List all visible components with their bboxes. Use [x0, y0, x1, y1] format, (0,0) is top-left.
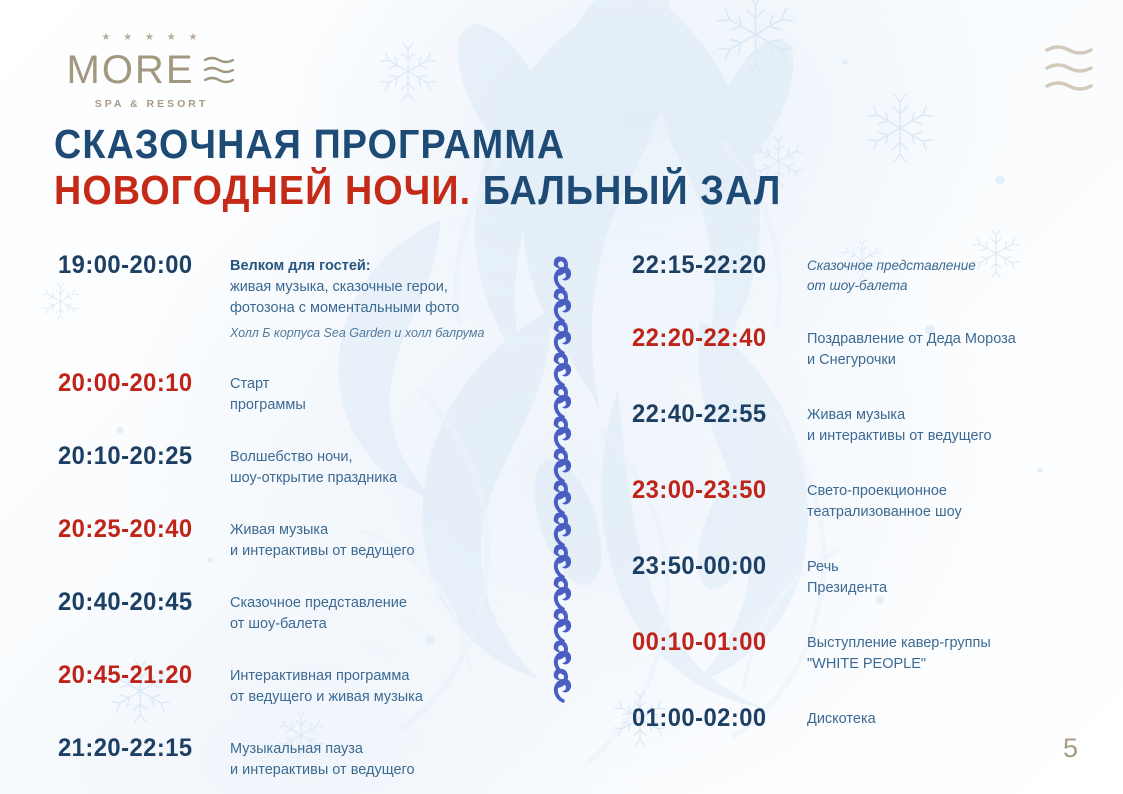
schedule-time: 23:50-00:00 — [632, 553, 798, 581]
schedule-row: 20:10-20:25Волшебство ночи,шоу-открытие … — [58, 443, 518, 489]
schedule-description-line: Свето-проекционное — [807, 481, 1082, 502]
schedule-description-line: Сказочное представление — [230, 593, 518, 614]
schedule-description-line: Поздравление от Деда Мороза — [807, 329, 1082, 350]
schedule-time: 19:00-20:00 — [58, 252, 221, 280]
schedule-description: Живая музыкаи интерактивы от ведущего — [230, 516, 518, 562]
schedule-time: 20:40-20:45 — [58, 589, 221, 617]
schedule-description-line: Сказочное представление — [807, 256, 1082, 276]
schedule-description-line: Президента — [807, 578, 1082, 599]
schedule-row: 23:00-23:50Свето-проекционноетеатрализов… — [632, 477, 1082, 523]
brand-name: MORE — [67, 50, 195, 90]
schedule-row: 22:40-22:55Живая музыкаи интерактивы от … — [632, 401, 1082, 447]
schedule-row: 19:00-20:00Велком для гостей:живая музык… — [58, 252, 518, 342]
corner-wave-icon — [1045, 42, 1095, 94]
schedule-description-line: и интерактивы от ведущего — [230, 541, 518, 562]
schedule-description-title: Велком для гостей: — [230, 256, 518, 277]
schedule-description-line: от шоу-балета — [807, 276, 1082, 296]
schedule-description-line: театрализованное шоу — [807, 502, 1082, 523]
title-line-2-red: НОВОГОДНЕЙ НОЧИ. — [54, 167, 471, 213]
schedule-time: 22:20-22:40 — [632, 325, 798, 353]
schedule-time: 01:00-02:00 — [632, 705, 798, 733]
schedule-description-line: Дискотека — [807, 709, 1082, 730]
schedule-time: 22:40-22:55 — [632, 401, 798, 429]
schedule-description: Стартпрограммы — [230, 370, 518, 416]
schedule-time: 20:45-21:20 — [58, 662, 221, 690]
schedule-time: 20:10-20:25 — [58, 443, 221, 471]
title-line-1: СКАЗОЧНАЯ ПРОГРАММА — [54, 122, 781, 168]
schedule-description-line: Музыкальная пауза — [230, 739, 518, 760]
schedule-description: Сказочное представлениеот шоу-балета — [230, 589, 518, 635]
title-line-2: НОВОГОДНЕЙ НОЧИ. БАЛЬНЫЙ ЗАЛ — [54, 168, 781, 214]
schedule-description-note: Холл Б корпуса Sea Garden и холл балрума — [230, 324, 518, 342]
schedule-description: Велком для гостей:живая музыка, сказочны… — [230, 252, 518, 342]
page-number: 5 — [1063, 733, 1079, 764]
schedule-row: 01:00-02:00Дискотека — [632, 705, 1082, 733]
schedule-description-line: от ведущего и живая музыка — [230, 687, 518, 708]
schedule-description-line: живая музыка, сказочные герои, — [230, 277, 518, 298]
schedule-description: РечьПрезидента — [807, 553, 1082, 599]
schedule-description-line: Выступление кавер-группы — [807, 633, 1082, 654]
schedule-row: 22:15-22:20Сказочное представлениеот шоу… — [632, 252, 1082, 295]
schedule-description: Выступление кавер-группы"WHITE PEOPLE" — [807, 629, 1082, 675]
schedule-row: 20:00-20:10Стартпрограммы — [58, 370, 518, 416]
schedule-description: Сказочное представлениеот шоу-балета — [807, 252, 1082, 295]
schedule-description: Поздравление от Деда Морозаи Снегурочки — [807, 325, 1082, 371]
schedule-description-line: Живая музыка — [807, 405, 1082, 426]
schedule-description-line: "WHITE PEOPLE" — [807, 654, 1082, 675]
schedule-description-line: Интерактивная программа — [230, 666, 518, 687]
title-line-2-blue: БАЛЬНЫЙ ЗАЛ — [483, 167, 782, 213]
schedule-description: Живая музыкаи интерактивы от ведущего — [807, 401, 1082, 447]
brand-logo: ★ ★ ★ ★ ★ MORE SPA & RESORT — [55, 33, 245, 110]
page-title: СКАЗОЧНАЯ ПРОГРАММА НОВОГОДНЕЙ НОЧИ. БАЛ… — [54, 122, 845, 214]
schedule-description: Дискотека — [807, 705, 1082, 730]
schedule-row: 22:20-22:40Поздравление от Деда Морозаи … — [632, 325, 1082, 371]
schedule-row: 20:25-20:40Живая музыкаи интерактивы от … — [58, 516, 518, 562]
schedule-time: 22:15-22:20 — [632, 252, 798, 280]
slide-page: ★ ★ ★ ★ ★ MORE SPA & RESORT СКАЗОЧНАЯ ПР… — [0, 0, 1123, 794]
wave-logo-icon — [204, 54, 234, 86]
schedule-column-left: 19:00-20:00Велком для гостей:живая музык… — [58, 252, 518, 781]
schedule-row: 21:20-22:15Музыкальная паузаи интерактив… — [58, 735, 518, 781]
schedule-description-line: от шоу-балета — [230, 614, 518, 635]
brand-wordmark: MORE — [55, 50, 245, 90]
brand-tagline: SPA & RESORT — [55, 98, 245, 110]
schedule-time: 23:00-23:50 — [632, 477, 798, 505]
schedule-description: Музыкальная паузаи интерактивы от ведуще… — [230, 735, 518, 781]
schedule-row: 00:10-01:00Выступление кавер-группы"WHIT… — [632, 629, 1082, 675]
schedule-row: 23:50-00:00РечьПрезидента — [632, 553, 1082, 599]
floral-divider-ornament — [549, 255, 575, 705]
schedule-description-line: шоу-открытие праздника — [230, 468, 518, 489]
schedule-time: 20:25-20:40 — [58, 516, 221, 544]
schedule-description-line: и интерактивы от ведущего — [230, 760, 518, 781]
schedule-time: 21:20-22:15 — [58, 735, 221, 763]
schedule-description: Свето-проекционноетеатрализованное шоу — [807, 477, 1082, 523]
schedule-column-right: 22:15-22:20Сказочное представлениеот шоу… — [632, 252, 1082, 733]
schedule-time: 20:00-20:10 — [58, 370, 221, 398]
schedule-description-line: Живая музыка — [230, 520, 518, 541]
schedule-row: 20:45-21:20Интерактивная программаот вед… — [58, 662, 518, 708]
schedule-description-line: и Снегурочки — [807, 350, 1082, 371]
schedule-time: 00:10-01:00 — [632, 629, 798, 657]
schedule-description-line: Волшебство ночи, — [230, 447, 518, 468]
schedule-description-line: Речь — [807, 557, 1082, 578]
schedule-description-line: и интерактивы от ведущего — [807, 426, 1082, 447]
schedule-description: Интерактивная программаот ведущего и жив… — [230, 662, 518, 708]
schedule-description-line: фотозона с моментальными фото — [230, 298, 518, 319]
schedule-description-line: программы — [230, 395, 518, 416]
schedule-description-line: Старт — [230, 374, 518, 395]
brand-stars: ★ ★ ★ ★ ★ — [55, 33, 245, 43]
schedule-description: Волшебство ночи,шоу-открытие праздника — [230, 443, 518, 489]
schedule-row: 20:40-20:45Сказочное представлениеот шоу… — [58, 589, 518, 635]
